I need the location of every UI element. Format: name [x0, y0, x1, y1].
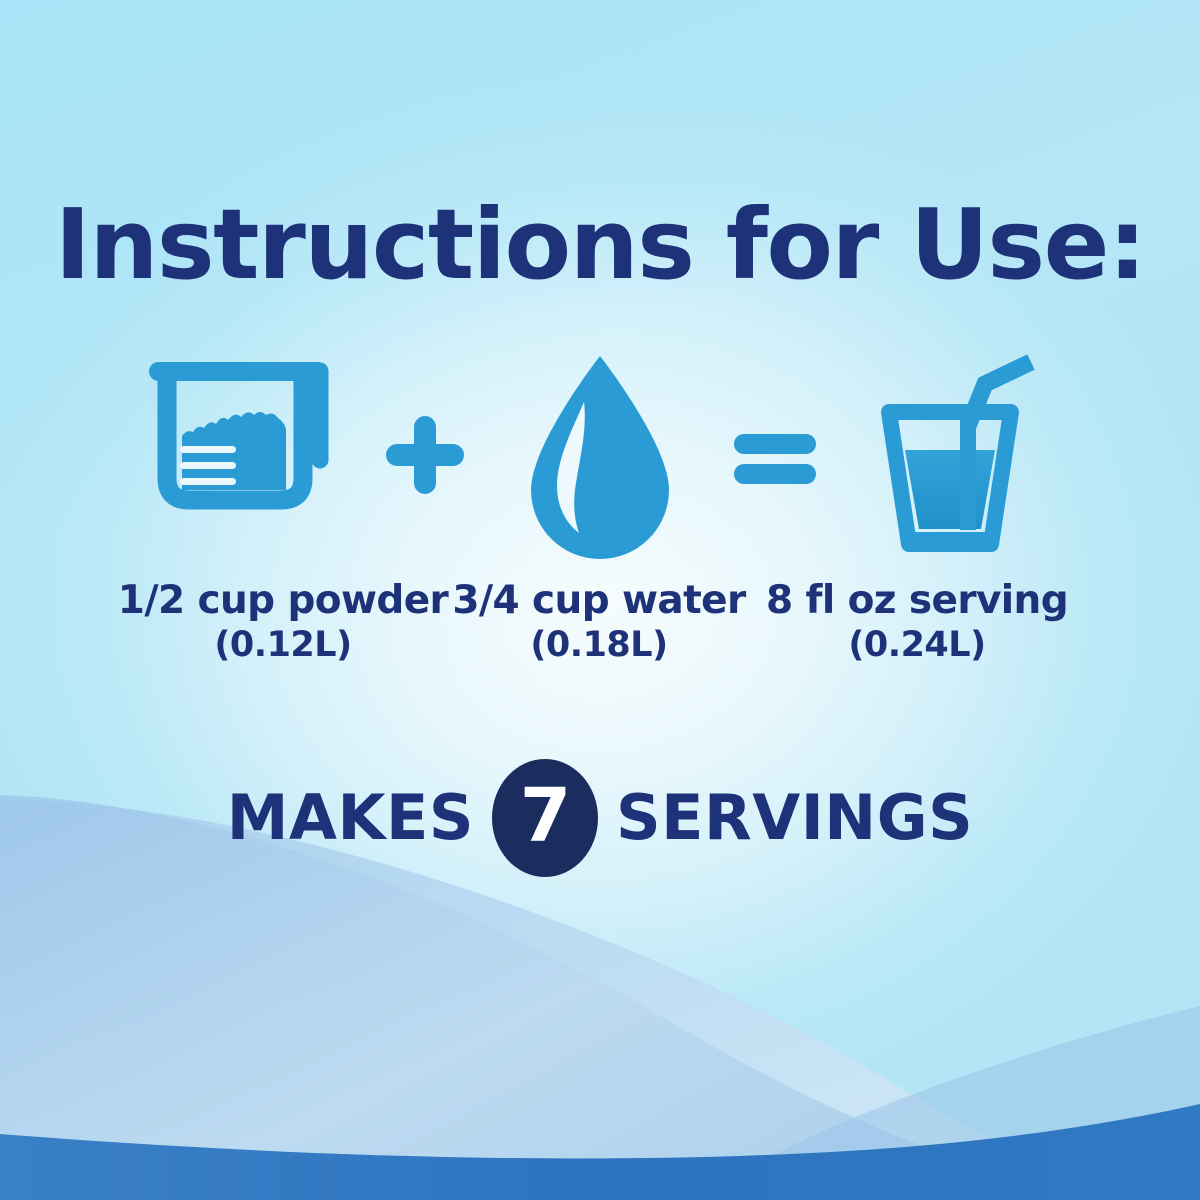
equals-icon	[715, 340, 835, 570]
servings-count-badge: 7	[492, 759, 598, 877]
makes-label: MAKES	[227, 787, 474, 849]
caption-serving-metric: (0.24L)	[747, 625, 1087, 666]
plus-icon	[365, 340, 485, 570]
makes-servings-row: MAKES 7 SERVINGS	[0, 762, 1200, 874]
instructions-for-use-poster: Instructions for Use:	[0, 0, 1200, 1200]
caption-water-amount: 3/4 cup water	[429, 578, 769, 623]
ingredient-captions-row: 1/2 cup powder (0.12L) 3/4 cup water (0.…	[0, 578, 1200, 666]
ingredient-steps-row	[120, 330, 1080, 580]
caption-serving: 8 fl oz serving (0.24L)	[747, 578, 1087, 666]
measuring-cup-icon	[135, 340, 365, 570]
page-title: Instructions for Use:	[0, 196, 1200, 295]
caption-water-metric: (0.18L)	[429, 625, 769, 666]
water-droplet-icon	[485, 340, 715, 570]
drinking-glass-icon	[835, 340, 1065, 570]
servings-label: SERVINGS	[616, 787, 973, 849]
caption-powder-metric: (0.12L)	[113, 625, 453, 666]
caption-powder: 1/2 cup powder (0.12L)	[113, 578, 453, 666]
servings-count-value: 7	[520, 779, 571, 853]
caption-water: 3/4 cup water (0.18L)	[429, 578, 769, 666]
caption-serving-amount: 8 fl oz serving	[747, 578, 1087, 623]
caption-powder-amount: 1/2 cup powder	[113, 578, 453, 623]
